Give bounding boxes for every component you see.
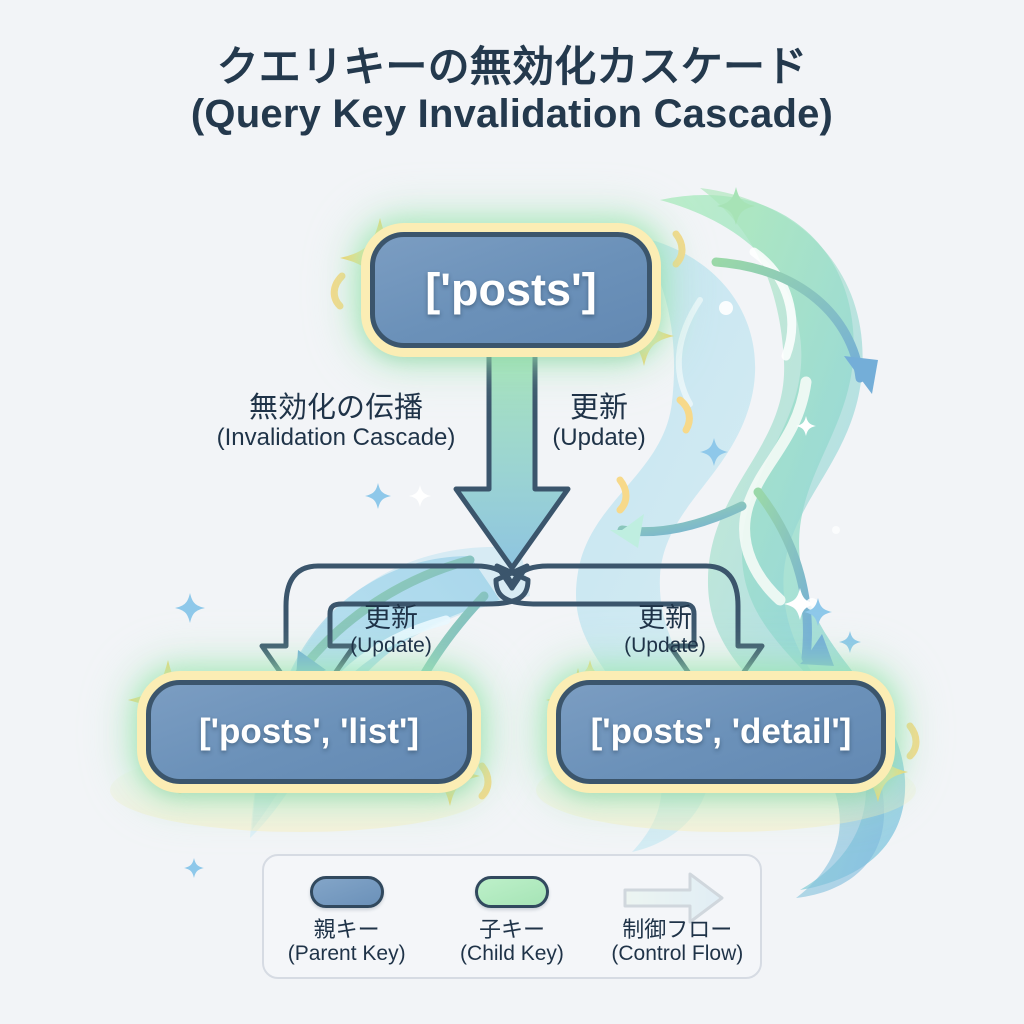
node-child-key-list-label: ['posts', 'list'] (199, 712, 419, 752)
node-parent-key[interactable]: ['posts'] (370, 232, 652, 348)
legend-swatch-child-key (475, 874, 549, 910)
title-japanese: クエリキーの無効化カスケード (0, 44, 1024, 89)
legend-label-child-key-en: (Child Key) (460, 942, 564, 966)
node-child-key-detail[interactable]: ['posts', 'detail'] (556, 680, 886, 784)
node-parent-key-label: ['posts'] (425, 264, 596, 316)
edge-label-update-right: 更新 (Update) (592, 603, 738, 658)
legend-label-control-flow-ja: 制御フロー (611, 917, 743, 942)
legend-label-parent-key-en: (Parent Key) (288, 942, 406, 966)
edge-label-update-main-ja: 更新 (524, 392, 674, 424)
edge-label-update-left: 更新 (Update) (318, 603, 464, 658)
parent-key-pill-icon (310, 876, 384, 908)
diagram-canvas: クエリキーの無効化カスケード (Query Key Invalidation C… (0, 0, 1024, 1024)
edge-label-update-left-ja: 更新 (318, 603, 464, 633)
edge-label-update-right-en: (Update) (592, 634, 738, 658)
legend-swatch-parent-key (310, 874, 384, 910)
legend-label-control-flow: 制御フロー (Control Flow) (611, 917, 743, 966)
edge-parent-to-split (456, 348, 568, 568)
node-child-key-list[interactable]: ['posts', 'list'] (146, 680, 472, 784)
legend-item-control-flow[interactable]: 制御フロー (Control Flow) (602, 874, 752, 966)
child-key-pill-icon (475, 876, 549, 908)
legend-label-parent-key-ja: 親キー (288, 917, 406, 942)
diagram-title: クエリキーの無効化カスケード (Query Key Invalidation C… (0, 44, 1024, 137)
edge-label-update-main-en: (Update) (524, 425, 674, 452)
edge-label-update-left-en: (Update) (318, 634, 464, 658)
legend-label-control-flow-en: (Control Flow) (611, 942, 743, 966)
edge-label-update-right-ja: 更新 (592, 603, 738, 633)
legend-item-parent-key[interactable]: 親キー (Parent Key) (272, 874, 422, 966)
edge-label-invalidation-cascade-ja: 無効化の伝播 (190, 392, 482, 424)
node-child-key-detail-label: ['posts', 'detail'] (591, 712, 852, 752)
edge-label-update-main: 更新 (Update) (524, 392, 674, 452)
legend-label-child-key-ja: 子キー (460, 917, 564, 942)
legend-item-child-key[interactable]: 子キー (Child Key) (437, 874, 587, 966)
legend-panel: 親キー (Parent Key) 子キー (Child Key) 制御フロー (… (262, 854, 762, 979)
edge-label-invalidation-cascade-en: (Invalidation Cascade) (190, 425, 482, 452)
edge-label-invalidation-cascade: 無効化の伝播 (Invalidation Cascade) (190, 392, 482, 452)
title-english: (Query Key Invalidation Cascade) (0, 93, 1024, 136)
legend-label-parent-key: 親キー (Parent Key) (288, 917, 406, 966)
legend-label-child-key: 子キー (Child Key) (460, 917, 564, 966)
